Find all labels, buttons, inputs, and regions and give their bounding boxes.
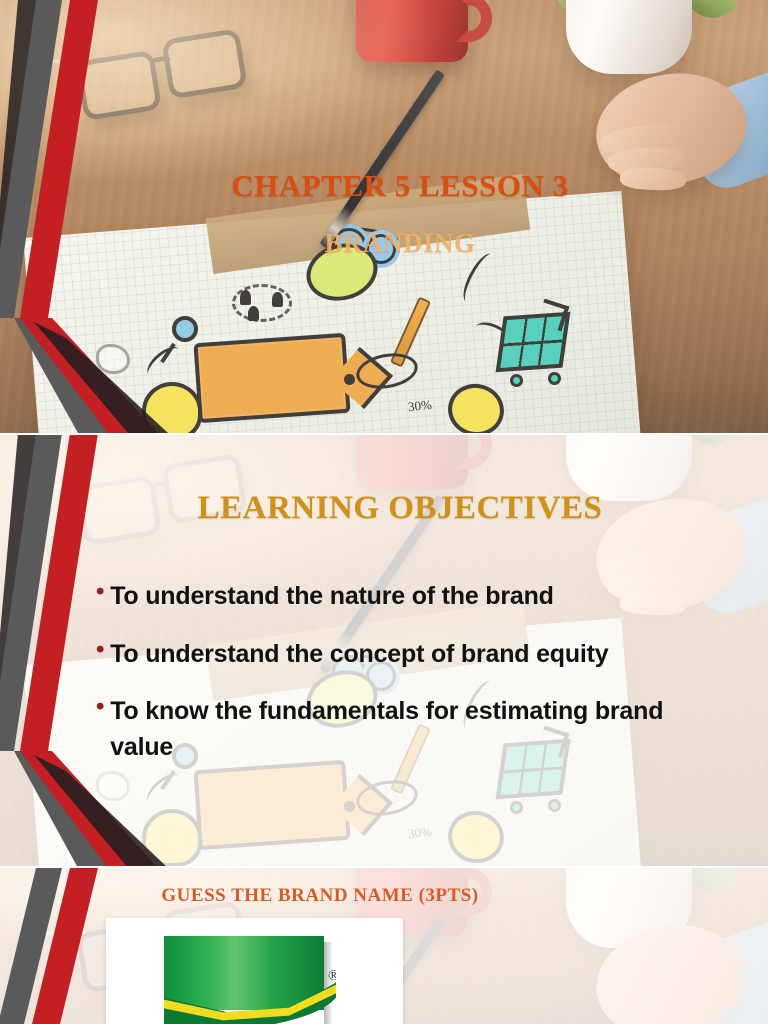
bullet-dot-icon: • bbox=[96, 579, 104, 605]
slide-2-text-layer: LEARNING OBJECTIVES • To understand the … bbox=[0, 433, 768, 868]
list-item: • To know the fundamentals for estimatin… bbox=[96, 694, 726, 765]
slide-title[interactable]: 30% CHAPTER 5 LESSON 3 BRANDING bbox=[0, 0, 768, 433]
registered-trademark-icon: ® bbox=[328, 968, 336, 985]
list-item: • To understand the nature of the brand bbox=[96, 579, 726, 615]
slide-guess-the-brand[interactable]: GUESS THE BRAND NAME (3PTS) ® bbox=[0, 868, 768, 1024]
slide-separator bbox=[0, 433, 768, 435]
bullet-dot-icon: • bbox=[96, 637, 104, 663]
slide-subtitle-branding: BRANDING bbox=[120, 228, 680, 259]
bullet-dot-icon: • bbox=[96, 694, 104, 720]
slide-title-chapter: CHAPTER 5 LESSON 3 bbox=[120, 168, 680, 204]
slide-title-guess-the-brand: GUESS THE BRAND NAME (3PTS) bbox=[40, 885, 600, 907]
slide-1-text-layer: CHAPTER 5 LESSON 3 BRANDING bbox=[0, 0, 768, 433]
list-item-label: To understand the concept of brand equit… bbox=[110, 637, 608, 673]
list-item: • To understand the concept of brand equ… bbox=[96, 637, 726, 673]
slide-title-learning-objectives: LEARNING OBJECTIVES bbox=[120, 490, 680, 527]
green-yellow-swoosh-logo: ® bbox=[164, 936, 336, 1024]
slide-3-text-layer: GUESS THE BRAND NAME (3PTS) ® bbox=[0, 868, 768, 1024]
brand-logo-card[interactable]: ® bbox=[106, 918, 403, 1024]
logo-green-rectangle bbox=[164, 936, 324, 1010]
slide-separator bbox=[0, 866, 768, 868]
list-item-label: To understand the nature of the brand bbox=[110, 579, 554, 615]
list-item-label: To know the fundamentals for estimating … bbox=[110, 694, 710, 765]
slide-learning-objectives[interactable]: 30% LEARNING OBJECTIVES • To unders bbox=[0, 433, 768, 868]
learning-objectives-list: • To understand the nature of the brand … bbox=[96, 579, 726, 787]
presentation-scroll-view[interactable]: 30% CHAPTER 5 LESSON 3 BRANDING bbox=[0, 0, 768, 1024]
